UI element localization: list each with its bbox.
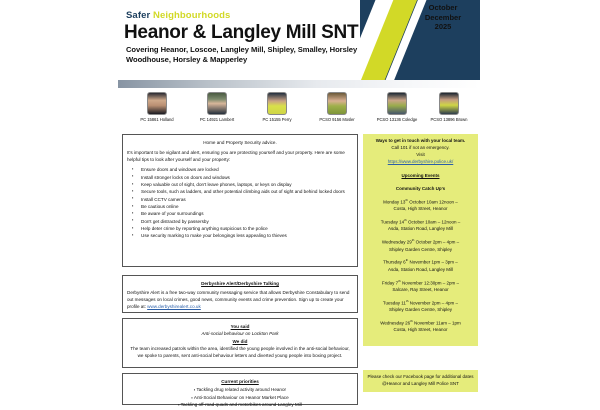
event-time: November 11am – 1pm — [413, 321, 461, 326]
list-item: Install CCTV cameras — [127, 196, 353, 203]
event-time: November 1pm – 3pm – — [408, 260, 458, 265]
safer-word: Safer — [126, 10, 150, 21]
event-time: November 2pm – 4pm – — [409, 300, 459, 305]
security-heading: Home and Property Security advice. — [127, 139, 353, 146]
we-did-text: The team increased patrols within the ar… — [127, 345, 353, 359]
event-venue: Costa, High Street, Heanor — [366, 327, 475, 334]
contact-line-2: Call 101 if not an emergency. — [366, 145, 475, 152]
officer-photo — [387, 92, 407, 115]
you-said-text: Anti-social behaviour on Lockton Park — [127, 330, 353, 337]
event-venue: Shipley Garden Centre, Shipley — [366, 247, 475, 254]
event-item: Thursday 6th November 1pm – 3pm – Asda, … — [366, 258, 475, 273]
officer-photo — [327, 92, 347, 115]
officer-card: PCSO 13896 Brown — [418, 92, 480, 122]
list-item: Don't get distracted by passersby — [127, 218, 353, 225]
alert-heading: Derbyshire Alert/Derbyshire Talking — [127, 280, 353, 287]
header-chevron-banner: October December 2025 — [360, 0, 480, 80]
officer-photo — [267, 92, 287, 115]
page-title: Heanor & Langley Mill SNT — [124, 22, 358, 44]
you-said-heading: You said — [127, 323, 353, 330]
officer-name: PC 14921 Lambert — [186, 117, 248, 122]
list-item: Install stronger locks on doors and wind… — [127, 174, 353, 181]
event-venue: Costa, High Street, Heanor — [366, 206, 475, 213]
officer-card: PC 15861 Holland — [126, 92, 188, 122]
issue-month-end: December — [412, 13, 474, 23]
officer-strip: PC 15861 Holland PC 14921 Lambert PC 151… — [118, 90, 480, 130]
police-website-link[interactable]: https://www.derbyshire.police.uk/ — [388, 159, 454, 164]
event-item: Tuesday 14th October 10am – 12noon – Asd… — [366, 218, 475, 233]
list-item: Secure tools, such as ladders, and other… — [127, 188, 353, 195]
list-item: Help deter crime by reporting anything s… — [127, 225, 353, 232]
event-day: Friday 7 — [382, 280, 398, 285]
officer-photo — [207, 92, 227, 115]
officer-name: PCSO 9156 Mosler — [306, 117, 368, 122]
officer-card: PC 14921 Lambert — [186, 92, 248, 122]
derbyshire-alert-link[interactable]: www.derbyshirealert.co.uk — [147, 304, 201, 309]
upcoming-events-heading: Upcoming Events — [366, 173, 475, 180]
security-tips-list: Ensure doors and windows are locked Inst… — [127, 166, 353, 239]
issue-year: 2025 — [412, 22, 474, 32]
page-header: Safer Neighbourhoods Heanor & Langley Mi… — [0, 0, 600, 80]
event-venue: Asda, Station Road, Langley Mill — [366, 267, 475, 274]
event-day: Tuesday 14 — [381, 220, 404, 225]
event-item: Monday 13th October 10am 12noon – Costa,… — [366, 198, 475, 213]
officer-photo — [147, 92, 167, 115]
event-day: Thursday 6 — [383, 260, 406, 265]
derbyshire-alert-box: Derbyshire Alert/Derbyshire Talking Derb… — [122, 275, 358, 313]
list-item: Be aware of your surroundings — [127, 210, 353, 217]
officer-card: PCSO 9156 Mosler — [306, 92, 368, 122]
event-day: Wednesday 26 — [380, 321, 410, 326]
we-did-heading: We did — [127, 338, 353, 345]
event-venue: Asda, Station Road, Langley Mill — [366, 226, 475, 233]
event-day: Tuesday 11 — [383, 300, 406, 305]
officer-name: PC 15861 Holland — [126, 117, 188, 122]
header-gradient-bar — [118, 80, 480, 88]
neighbourhoods-word: Neighbourhoods — [153, 10, 230, 21]
list-item: Tackling off-road quads and motorbikes a… — [127, 401, 353, 408]
list-item: Tackling drug related activity around He… — [127, 386, 353, 393]
event-time: November 12:30pm – 2pm – — [401, 280, 459, 285]
coverage-subtitle: Covering Heanor, Loscoe, Langley Mill, S… — [126, 45, 376, 66]
facebook-note: Please check our Facebook page for addit… — [363, 370, 478, 392]
list-item: Ensure doors and windows are locked — [127, 166, 353, 173]
event-item: Tuesday 11th November 2pm – 4pm – Shiple… — [366, 299, 475, 314]
contact-line-1: Ways to get in touch with your local tea… — [366, 138, 475, 145]
security-advice-box: Home and Property Security advice. It's … — [122, 134, 358, 267]
event-item: Wednesday 29th October 2pm – 4pm – Shipl… — [366, 238, 475, 253]
list-item: Keep valuable out of sight, don't leave … — [127, 181, 353, 188]
officer-card: PC 15155 Perry — [246, 92, 308, 122]
community-catchup-heading: Community Catch Up's — [366, 186, 475, 193]
list-item: Anti-Social Behaviour on Heanor Market P… — [127, 394, 353, 401]
priorities-list: Tackling drug related activity around He… — [127, 386, 353, 408]
current-priorities-box: Current priorities Tackling drug related… — [122, 373, 358, 405]
event-item: Wednesday 26th November 11am – 1pm Costa… — [366, 319, 475, 334]
safer-neighbourhoods-logo: Safer Neighbourhoods — [126, 10, 230, 21]
priorities-heading: Current priorities — [127, 378, 353, 385]
newsletter-page: Safer Neighbourhoods Heanor & Langley Mi… — [0, 0, 600, 410]
officer-photo — [439, 92, 459, 115]
event-time: October 10am – 12noon – — [407, 220, 461, 225]
event-day: Monday 13 — [383, 199, 405, 204]
officer-name: PC 15155 Perry — [246, 117, 308, 122]
alert-body: Derbyshire Alert is a free two-way commu… — [127, 289, 353, 310]
event-venue: Salcare, Ray Street, Heanor — [366, 287, 475, 294]
officer-name: PCSO 13896 Brown — [418, 117, 480, 122]
list-item: Use security marking to make your belong… — [127, 232, 353, 239]
event-time: October 2pm – 4pm – — [414, 240, 459, 245]
you-said-we-did-box: You said Anti-social behaviour on Lockto… — [122, 318, 358, 368]
event-item: Friday 7th November 12:30pm – 2pm – Salc… — [366, 279, 475, 294]
event-venue: Shipley Garden Centre, Shipley — [366, 307, 475, 314]
contact-events-panel: Ways to get in touch with your local tea… — [363, 134, 478, 346]
security-intro: It's important to be vigilant and alert,… — [127, 149, 353, 163]
event-day: Wednesday 29 — [382, 240, 412, 245]
issue-month-start: October — [412, 3, 474, 13]
issue-date: October December 2025 — [412, 3, 474, 32]
contact-line-3: Visit — [366, 152, 475, 159]
list-item: Be cautious online — [127, 203, 353, 210]
event-time: October 10am 12noon – — [408, 199, 458, 204]
